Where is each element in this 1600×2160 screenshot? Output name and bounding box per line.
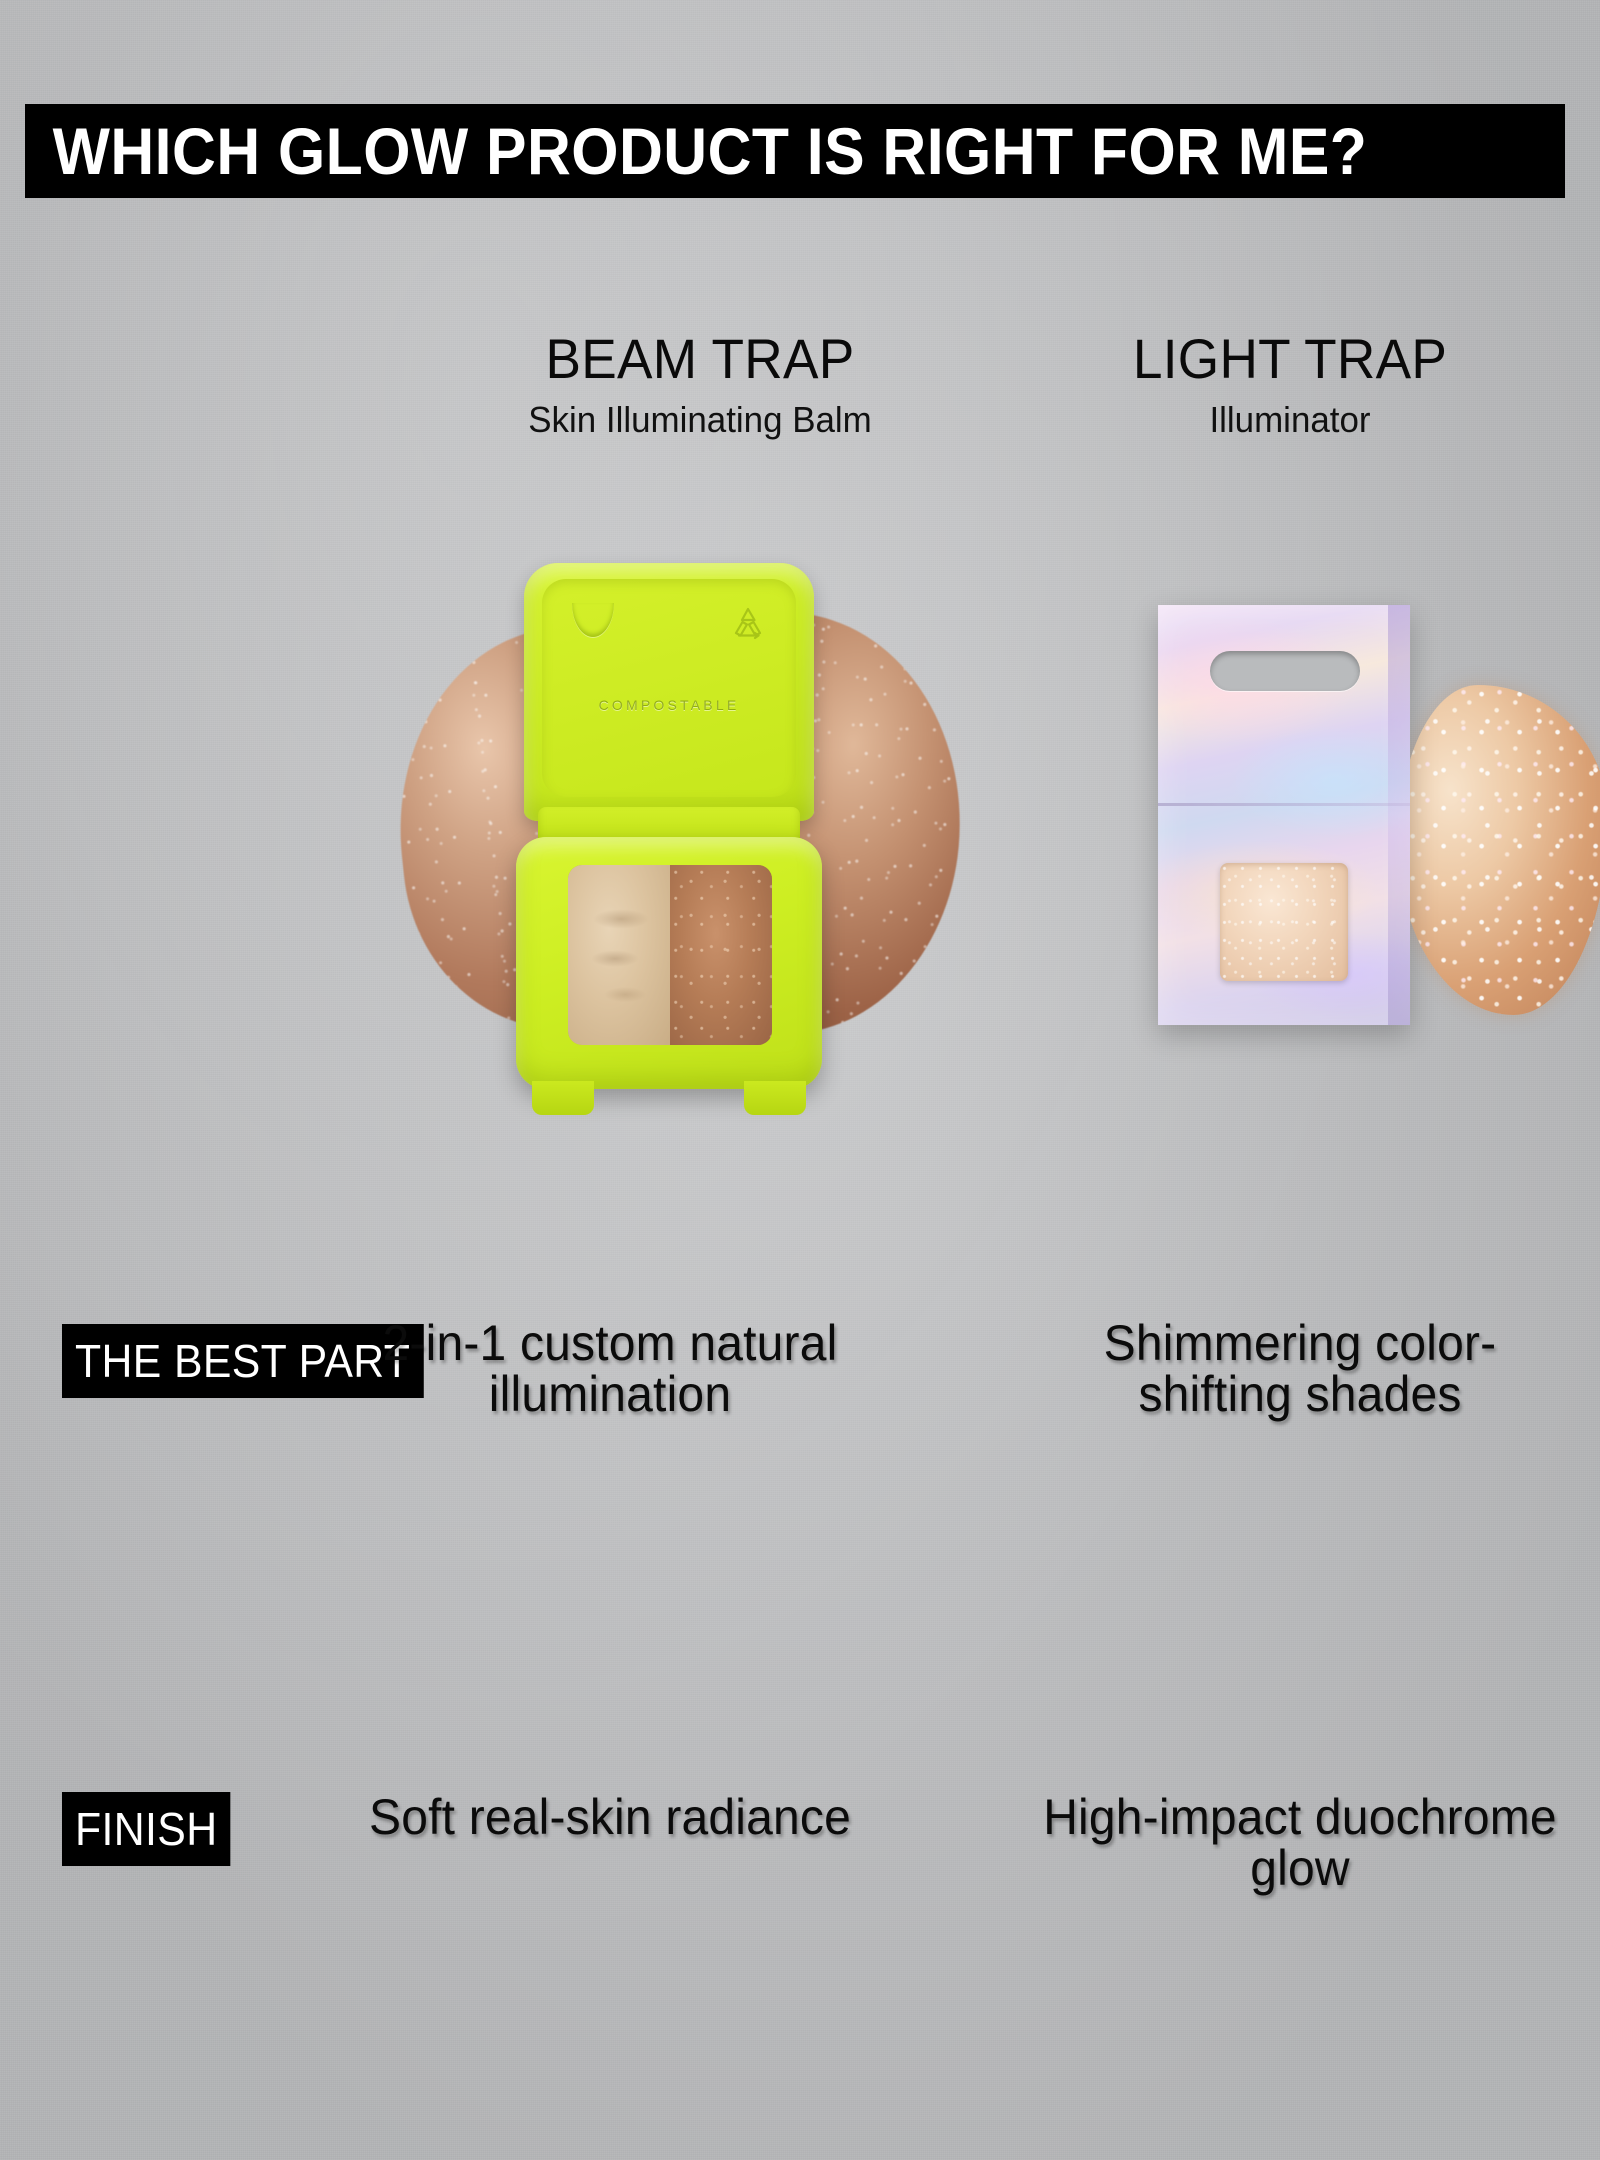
thumb-notch-icon [572, 603, 614, 637]
product-header-light-trap: LIGHT TRAP Illuminator [1030, 330, 1550, 439]
iridescent-package [1158, 605, 1410, 1025]
product-name-beam-trap: BEAM TRAP [320, 330, 1080, 387]
comparison-row-best-part: THE BEST PART 2-in-1 custom natural illu… [0, 1300, 1600, 1530]
compact-base [516, 837, 822, 1089]
compact-lid: COMPOSTABLE [524, 563, 814, 821]
package-side-edge [1388, 605, 1410, 1025]
product-image-beam-trap: COMPOSTABLE [420, 555, 920, 1215]
product-subtitle-light-trap: Illuminator [1038, 401, 1542, 439]
powder-swatch-crumble [1398, 685, 1600, 1015]
comparison-row-texture: TEXTURE Melting balm Buttery smooth powd… [0, 1735, 1600, 1925]
compact-lid-inner-panel: COMPOSTABLE [542, 579, 796, 797]
recycling-icon [726, 603, 770, 643]
product-header-beam-trap: BEAM TRAP Skin Illuminating Balm [300, 330, 1100, 439]
compact-foot-right [744, 1081, 806, 1115]
compostable-label: COMPOSTABLE [542, 697, 796, 713]
package-fold-line [1158, 803, 1410, 806]
comparison-table: THE BEST PART 2-in-1 custom natural illu… [0, 1300, 1600, 2160]
pan-shade-light [568, 865, 670, 1045]
product-name-light-trap: LIGHT TRAP [1043, 330, 1537, 387]
cell-beam-trap-best-part: 2-in-1 custom natural illumination [341, 1318, 879, 1420]
comparison-row-application: APPLICATION Apply with fingers/sponge ov… [0, 1925, 1600, 2160]
product-image-light-trap [1130, 555, 1590, 1215]
cell-light-trap-best-part: Shimmering color-shifting shades [1031, 1318, 1569, 1420]
compact-foot-left [532, 1081, 594, 1115]
handle-slot-cutout [1210, 651, 1360, 691]
pan-shade-bronze [670, 865, 772, 1045]
duo-pan-well [568, 865, 772, 1045]
page-title-bar: WHICH GLOW PRODUCT IS RIGHT FOR ME? [25, 104, 1565, 198]
comparison-row-finish: FINISH Soft real-skin radiance High-impa… [0, 1530, 1600, 1735]
product-subtitle-beam-trap: Skin Illuminating Balm [312, 401, 1088, 439]
illuminator-powder-pan [1220, 863, 1348, 981]
page-title: WHICH GLOW PRODUCT IS RIGHT FOR ME? [25, 118, 1367, 184]
